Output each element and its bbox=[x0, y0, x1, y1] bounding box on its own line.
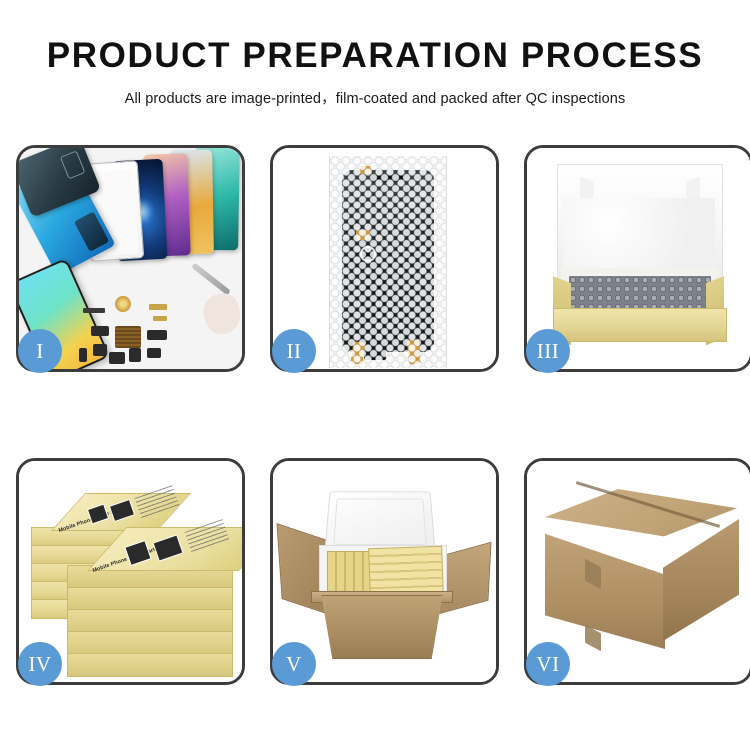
step-badge-2: II bbox=[272, 329, 316, 373]
wrapped-units-in-box bbox=[569, 276, 711, 312]
process-step-panel-3: III bbox=[524, 145, 750, 372]
part-camera-module bbox=[109, 352, 125, 364]
box-front-panel bbox=[553, 308, 727, 342]
part-gold-flex-1 bbox=[149, 304, 167, 310]
part-ic-chip bbox=[115, 326, 141, 348]
part-vibrator bbox=[129, 348, 141, 362]
process-step-panel-6: VI bbox=[524, 458, 750, 685]
sealed-carton bbox=[545, 489, 737, 655]
page-header: PRODUCT PREPARATION PROCESS All products… bbox=[0, 0, 750, 108]
stacked-box-f4 bbox=[67, 631, 233, 655]
process-step-panel-5: V bbox=[270, 458, 499, 685]
box-stack: Mobile Phone Spare Parts Mobile Phone Sp… bbox=[27, 483, 239, 669]
step-badge-5: V bbox=[272, 642, 316, 686]
part-button-set bbox=[147, 348, 161, 358]
part-gold-flex-2 bbox=[153, 316, 167, 321]
process-steps-grid: I II bbox=[16, 145, 734, 685]
carton-body bbox=[313, 595, 451, 659]
step-badge-6: VI bbox=[526, 642, 570, 686]
bubble-wrap-bag bbox=[329, 156, 447, 368]
part-flex-cable-3 bbox=[147, 330, 167, 340]
step-badge-4: IV bbox=[18, 642, 62, 686]
carton-front-face bbox=[545, 529, 665, 649]
part-flex-cable-1 bbox=[91, 326, 109, 336]
stacked-box-f3 bbox=[67, 609, 233, 633]
page-title: PRODUCT PREPARATION PROCESS bbox=[0, 38, 750, 75]
stacked-box-f5 bbox=[67, 653, 233, 677]
carton-side-face bbox=[663, 519, 739, 641]
process-step-panel-4: Mobile Phone Spare Parts Mobile Phone Sp… bbox=[16, 458, 245, 685]
process-step-panel-1: I bbox=[16, 145, 245, 372]
bubble-texture bbox=[330, 156, 446, 368]
part-speaker-coil bbox=[115, 296, 131, 312]
step-badge-1: I bbox=[18, 329, 62, 373]
part-sim-tray bbox=[79, 348, 87, 362]
part-earpiece bbox=[83, 308, 105, 313]
foam-sheet bbox=[563, 198, 715, 276]
part-flex-cable-2 bbox=[93, 344, 107, 356]
process-step-panel-2: II bbox=[270, 145, 499, 372]
step-badge-3: III bbox=[526, 329, 570, 373]
stacked-box-f2 bbox=[67, 587, 233, 611]
page-subtitle: All products are image-printed，film-coat… bbox=[0, 87, 750, 108]
